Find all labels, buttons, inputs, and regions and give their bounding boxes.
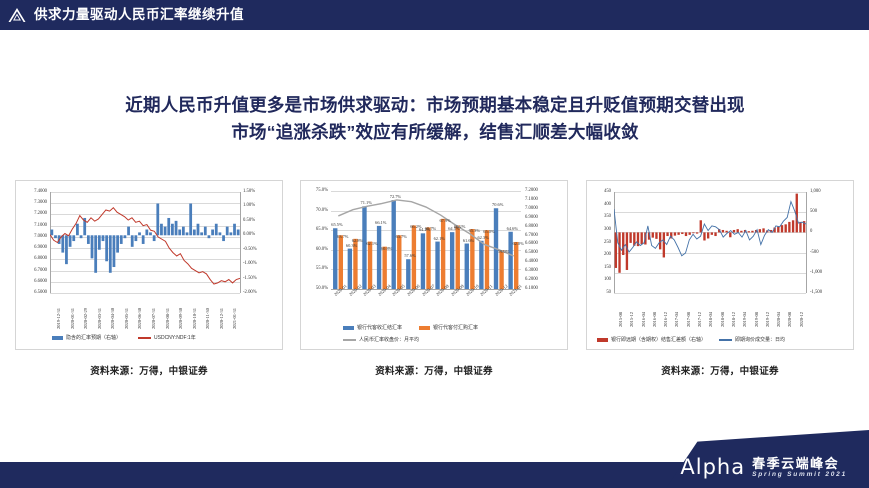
gridline [50, 293, 240, 294]
y2-axis-tick: -2.00% [243, 290, 257, 295]
bar-data-label: 70.6% [492, 202, 503, 207]
bar-data-label: 63.7% [396, 234, 407, 239]
y-axis-tick: 6.9000 [18, 245, 47, 250]
bar-data-label: 65.7% [425, 226, 436, 231]
legend-item: 银行即远期（含期权）结售汇差额（右轴） [597, 336, 706, 343]
x-axis-tick: 2016-12 [663, 312, 668, 327]
y-axis-tick: 400 [588, 202, 611, 207]
summit-title-cn: 春季云端峰会 [752, 456, 847, 471]
x-axis-tick: 2020-04 [776, 312, 781, 327]
legend-item: 人民币汇率收盘价：月平均 [343, 336, 419, 343]
header-title: 供求力量驱动人民币汇率继续升值 [34, 0, 244, 30]
chart-1-plot [50, 192, 240, 293]
bar-data-label: 66.1% [375, 220, 386, 225]
legend-item: USDCNY:NDF:1年 [138, 334, 196, 341]
y-axis-tick: 7.1000 [18, 223, 47, 228]
chart-column-3: 450400350300250200150100501,0005000-500-… [586, 180, 854, 377]
x-axis-tick: 2017-04 [674, 312, 679, 327]
footer-logo: Alpha 春季云端峰会 Spring Summit 2021 [680, 456, 847, 478]
x-axis-tick: 2018-12 [731, 312, 736, 327]
y2-axis-tick: 7.2000 [525, 188, 538, 193]
y-axis-tick: 6.7000 [18, 268, 47, 273]
bar-data-label: 62.0% [513, 241, 524, 246]
legend-swatch [719, 339, 732, 341]
y2-axis-tick: 0.50% [243, 218, 255, 223]
x-axis-tick: 2020-11-30 [205, 308, 210, 329]
x-axis-tick: 2017-12 [697, 312, 702, 327]
legend-item: 隐含的汇率预期（右轴） [52, 334, 121, 341]
y2-axis-tick: -500 [810, 250, 819, 255]
bar-data-label: 62.1% [366, 241, 377, 246]
y2-axis-tick: -1,500 [810, 290, 822, 295]
x-axis-tick: 2020-01-31 [70, 308, 75, 329]
legend-swatch [52, 336, 63, 340]
chart-3: 450400350300250200150100501,0005000-500-… [586, 180, 854, 350]
x-axis-tick: 2019-08 [754, 312, 759, 327]
legend-label: 人民币汇率收盘价：月平均 [359, 336, 419, 343]
y2-axis-tick: -1.50% [243, 276, 257, 281]
legend-label: 银行即远期（含期权）结售汇差额（右轴） [611, 336, 706, 343]
legend-label: 银行代客收汇结汇率 [357, 324, 402, 331]
header-bar: 供求力量驱动人民币汇率继续升值 [0, 0, 869, 30]
y2-axis-tick: -0.50% [243, 247, 257, 252]
chart-2: 75.0%70.0%65.0%60.0%55.0%50.0%7.20007.10… [300, 180, 568, 350]
legend-swatch [343, 326, 354, 330]
y-axis-tick: 6.6000 [18, 279, 47, 284]
y2-axis-tick: 6.5000 [525, 250, 538, 255]
bar-data-label: 67.9% [439, 218, 450, 223]
page-title: 近期人民币升值更多是市场供求驱动：市场预期基本稳定且升贬值预期交替出现 市场“追… [40, 92, 830, 146]
bar-data-label: 63.7% [337, 234, 348, 239]
x-axis-tick: 2015-08 [618, 312, 623, 327]
chart-2-legend-row-1: 银行代客收汇结汇率银行代客付汇购汇率 [343, 324, 492, 331]
y-axis-tick: 350 [588, 214, 611, 219]
y2-axis-tick: -1.00% [243, 261, 257, 266]
y2-axis-tick: 1.00% [243, 203, 255, 208]
y-axis-tick: 65.0% [302, 227, 328, 232]
chart-1-legend: 隐含的汇率预期（右轴）USDCNY:NDF:1年 [52, 334, 210, 341]
x-axis-tick: 2020-05-31 [124, 308, 129, 329]
chart-3-source: 资料来源：万得，中银证券 [661, 363, 779, 377]
x-axis-tick: 2020-06-30 [137, 308, 142, 329]
x-axis-tick: 2020-03-31 [97, 308, 102, 329]
y-axis-tick: 7.4000 [18, 189, 47, 194]
x-axis-tick: 2020-12 [799, 312, 804, 327]
y-axis-tick: 70.0% [302, 208, 328, 213]
y-axis-tick: 60.0% [302, 247, 328, 252]
chart-1-source: 资料来源：万得，中银证券 [90, 363, 208, 377]
y2-axis-tick: -1,000 [810, 270, 822, 275]
x-axis-tick: 2020-02-29 [83, 308, 88, 329]
y2-axis-tick: 6.6000 [525, 241, 538, 246]
y-axis-tick: 200 [588, 252, 611, 257]
y-axis-tick: 100 [588, 277, 611, 282]
y2-axis-tick: 6.8000 [525, 224, 538, 229]
x-axis-tick: 2020-07-31 [151, 308, 156, 329]
page-title-line1: 近期人民币升值更多是市场供求驱动：市场预期基本稳定且升贬值预期交替出现 [40, 92, 830, 119]
y2-axis-tick: 6.1000 [525, 286, 538, 291]
legend-label: USDCNY:NDF:1年 [154, 334, 196, 341]
legend-label: 隐含的汇率预期（右轴） [66, 334, 121, 341]
x-axis-tick: 2017-08 [686, 312, 691, 327]
chart-2-legend-row-2: 人民币汇率收盘价：月平均 [343, 336, 419, 343]
legend-label: 银行代客付汇购汇率 [433, 324, 478, 331]
x-axis-tick: 2016-04 [641, 312, 646, 327]
chart-2-source: 资料来源：万得，中银证券 [375, 363, 493, 377]
x-axis-tick: 2020-08 [787, 312, 792, 327]
x-axis-tick: 2019-12-31 [56, 308, 61, 329]
y-axis-tick: 300 [588, 227, 611, 232]
x-axis-tick: 2016-08 [652, 312, 657, 327]
chart-column-1: 7.40007.30007.20007.10007.00006.90006.80… [15, 180, 283, 377]
legend-swatch [597, 338, 608, 342]
page-title-line2: 市场“追涨杀跌”效应有所缓解，结售汇顺差大幅收敛 [40, 119, 830, 146]
y-axis-tick: 50.0% [302, 286, 328, 291]
y-axis-tick: 6.8000 [18, 256, 47, 261]
x-axis-tick: 2015-12 [629, 312, 634, 327]
y2-axis-line [806, 192, 807, 293]
chart-column-2: 75.0%70.0%65.0%60.0%55.0%50.0%7.20007.10… [300, 180, 568, 377]
x-axis-tick: 2019-12 [765, 312, 770, 327]
x-axis-tick: 2020-04-30 [110, 308, 115, 329]
y-axis-tick: 7.0000 [18, 234, 47, 239]
triangle-mountain-icon [0, 6, 34, 24]
y2-axis-tick: 6.3000 [525, 268, 538, 273]
gridline [614, 293, 806, 294]
bar-data-label: 60.3% [346, 243, 357, 248]
bar-data-label: 62.8% [352, 238, 363, 243]
y-axis-tick: 450 [588, 189, 611, 194]
legend-item: 即期询价成交量：日均 [719, 336, 785, 343]
bar-data-label: 66.2% [454, 224, 465, 229]
x-axis-tick: 2019-04 [742, 312, 747, 327]
y-axis-tick: 6.5000 [18, 290, 47, 295]
legend-swatch [343, 339, 356, 341]
x-axis-tick: 2020-09-30 [178, 308, 183, 329]
x-axis-tick: 2021-01-31 [232, 308, 237, 329]
bar-data-label: 62.3% [477, 235, 488, 240]
chart-3-legend: 银行即远期（含期权）结售汇差额（右轴）即期询价成交量：日均 [597, 336, 795, 343]
legend-swatch [419, 326, 430, 330]
y2-axis-tick: 500 [810, 209, 817, 214]
alpha-wordmark: Alpha [680, 456, 745, 478]
chart-1: 7.40007.30007.20007.10007.00006.90006.80… [15, 180, 283, 350]
bar-data-label: 65.0% [483, 229, 494, 234]
x-axis-tick: 2018-04 [708, 312, 713, 327]
y-axis-tick: 75.0% [302, 188, 328, 193]
legend-item: 银行代客收汇结汇率 [343, 324, 402, 331]
y2-axis-line [240, 192, 241, 293]
y2-axis-tick: 7.1000 [525, 197, 538, 202]
y-axis-tick: 150 [588, 265, 611, 270]
bar-data-label: 60.8% [381, 246, 392, 251]
y2-axis-tick: 0.00% [243, 232, 255, 237]
slide: 供求力量驱动人民币汇率继续升值 近期人民币升值更多是市场供求驱动：市场预期基本稳… [0, 0, 869, 488]
bar-data-label: 64.6% [507, 226, 518, 231]
x-axis-tick: 2020-10-31 [192, 308, 197, 329]
y2-axis-tick: 6.9000 [525, 215, 538, 220]
y2-axis-tick: 7.0000 [525, 206, 538, 211]
legend-swatch [138, 337, 151, 339]
bar-data-label: 65.5% [331, 222, 342, 227]
chart-3-plot [614, 192, 806, 293]
y-axis-tick: 250 [588, 240, 611, 245]
summit-title-en: Spring Summit 2021 [752, 471, 847, 478]
bar-data-label: 72.7% [390, 194, 401, 199]
y2-axis-tick: 0 [810, 229, 812, 234]
bar-data-label: 61.6% [463, 238, 474, 243]
bar-data-label: 71.1% [361, 200, 372, 205]
bar-data-label: 57.6% [404, 253, 415, 258]
bar-data-label: 59.9% [498, 249, 509, 254]
y-axis-tick: 55.0% [302, 266, 328, 271]
x-axis-tick: 2020-08-31 [165, 308, 170, 329]
x-axis-tick: 2020-12-31 [219, 308, 224, 329]
y-axis-tick: 7.2000 [18, 211, 47, 216]
y-axis-tick: 50 [588, 290, 611, 295]
legend-label: 即期询价成交量：日均 [735, 336, 785, 343]
x-axis-tick: 2018-08 [720, 312, 725, 327]
y-axis-tick: 7.3000 [18, 200, 47, 205]
y2-axis-tick: 1.50% [243, 189, 255, 194]
y2-axis-tick: 6.2000 [525, 277, 538, 282]
y2-axis-tick: 1,000 [810, 189, 821, 194]
bar-data-label: 65.3% [469, 228, 480, 233]
y2-axis-tick: 6.7000 [525, 233, 538, 238]
bar-data-label: 62.1% [434, 236, 445, 241]
legend-item: 银行代客付汇购汇率 [419, 324, 478, 331]
y2-axis-tick: 6.4000 [525, 259, 538, 264]
